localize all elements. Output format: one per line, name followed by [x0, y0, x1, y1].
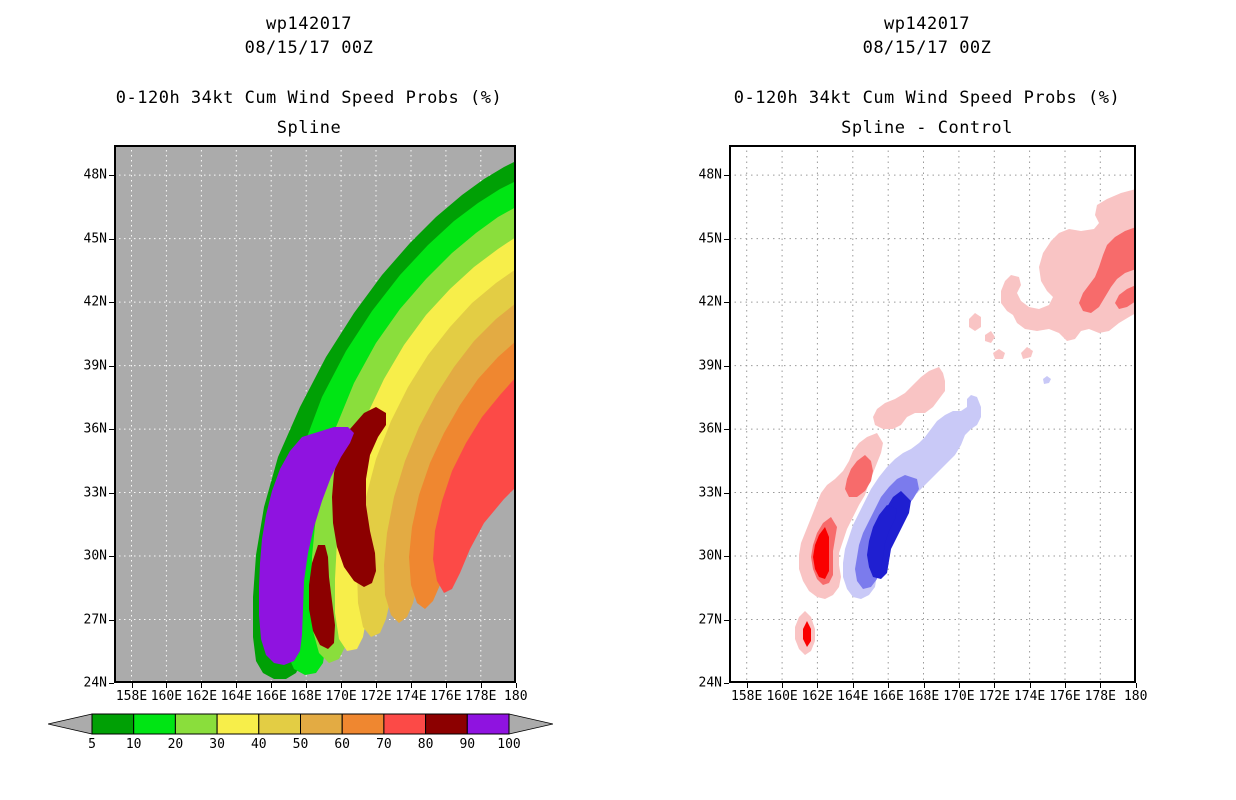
right-xtick-160e: 160E [766, 690, 797, 703]
right-xtick-172e: 172E [979, 690, 1010, 703]
left-cbar-label-40: 40 [251, 738, 267, 751]
right-plot-area[interactable]: 24N 27N 30N 33N 36N 39N 42N 45N 48N 158E… [729, 145, 1136, 683]
left-colorbar[interactable]: 5 10 20 30 40 50 60 70 80 90 100 [48, 712, 553, 758]
left-cbar-label-80: 80 [418, 738, 434, 751]
right-storm-id: wp142017 [618, 14, 1236, 34]
left-xtick-174e: 174E [395, 690, 426, 703]
left-storm-id: wp142017 [0, 14, 618, 34]
left-ytick-33n: 33N [84, 486, 107, 499]
right-xtick-178e: 178E [1085, 690, 1116, 703]
left-ytick-45n: 45N [84, 232, 107, 245]
right-ytick-30n: 30N [699, 550, 722, 563]
left-ytick-42n: 42N [84, 296, 107, 309]
left-ytick-30n: 30N [84, 550, 107, 563]
left-cbar-label-90: 90 [459, 738, 475, 751]
right-plot-frame [729, 145, 1136, 683]
left-xtick-176e: 176E [430, 690, 461, 703]
left-xtick-168e: 168E [291, 690, 322, 703]
right-xtick-176e: 176E [1049, 690, 1080, 703]
right-xtick-180: 180 [1124, 690, 1147, 703]
right-xtick-170e: 170E [943, 690, 974, 703]
right-ytick-33n: 33N [699, 486, 722, 499]
left-xtick-180: 180 [504, 690, 527, 703]
right-ytick-48n: 48N [699, 169, 722, 182]
left-xtick-170e: 170E [325, 690, 356, 703]
left-cbar-label-20: 20 [168, 738, 184, 751]
right-xtick-166e: 166E [873, 690, 904, 703]
left-xtick-162e: 162E [186, 690, 217, 703]
panel-right-spline-minus-control: wp142017 08/15/17 00Z 0-120h 34kt Cum Wi… [618, 0, 1236, 800]
right-ytick-45n: 45N [699, 232, 722, 245]
left-plot-frame [114, 145, 516, 683]
right-datetime: 08/15/17 00Z [618, 38, 1236, 58]
left-cbar-label-10: 10 [126, 738, 142, 751]
left-ytick-27n: 27N [84, 613, 107, 626]
right-xtick-158e: 158E [731, 690, 762, 703]
right-ytick-24n: 24N [699, 677, 722, 690]
left-ytick-36n: 36N [84, 423, 107, 436]
right-ytick-27n: 27N [699, 613, 722, 626]
right-xtick-168e: 168E [908, 690, 939, 703]
left-plot-title: 0-120h 34kt Cum Wind Speed Probs (%) [0, 88, 618, 108]
left-ytick-24n: 24N [84, 677, 107, 690]
left-xtick-172e: 172E [360, 690, 391, 703]
right-xtick-162e: 162E [802, 690, 833, 703]
left-xtick-166e: 166E [256, 690, 287, 703]
right-ytick-39n: 39N [699, 359, 722, 372]
left-cbar-label-100: 100 [497, 738, 520, 751]
left-xtick-158e: 158E [116, 690, 147, 703]
left-cbar-label-50: 50 [293, 738, 309, 751]
left-colorbar-swatches [48, 712, 553, 736]
left-ytick-48n: 48N [84, 169, 107, 182]
left-xtick-164e: 164E [221, 690, 252, 703]
left-plot-subtitle: Spline [0, 118, 618, 138]
left-cbar-label-30: 30 [209, 738, 225, 751]
right-ytick-36n: 36N [699, 423, 722, 436]
right-plot-title: 0-120h 34kt Cum Wind Speed Probs (%) [618, 88, 1236, 108]
left-cbar-label-60: 60 [334, 738, 350, 751]
panel-left-spline: wp142017 08/15/17 00Z 0-120h 34kt Cum Wi… [0, 0, 618, 800]
left-cbar-label-70: 70 [376, 738, 392, 751]
left-cbar-label-5: 5 [88, 738, 96, 751]
left-ytick-39n: 39N [84, 359, 107, 372]
right-xtick-164e: 164E [837, 690, 868, 703]
left-xtick-178e: 178E [465, 690, 496, 703]
right-ytick-42n: 42N [699, 296, 722, 309]
left-datetime: 08/15/17 00Z [0, 38, 618, 58]
left-xtick-160e: 160E [151, 690, 182, 703]
right-xtick-174e: 174E [1014, 690, 1045, 703]
right-plot-subtitle: Spline - Control [618, 118, 1236, 138]
left-plot-area[interactable]: 24N 27N 30N 33N 36N 39N 42N 45N 48N 158E… [114, 145, 516, 683]
